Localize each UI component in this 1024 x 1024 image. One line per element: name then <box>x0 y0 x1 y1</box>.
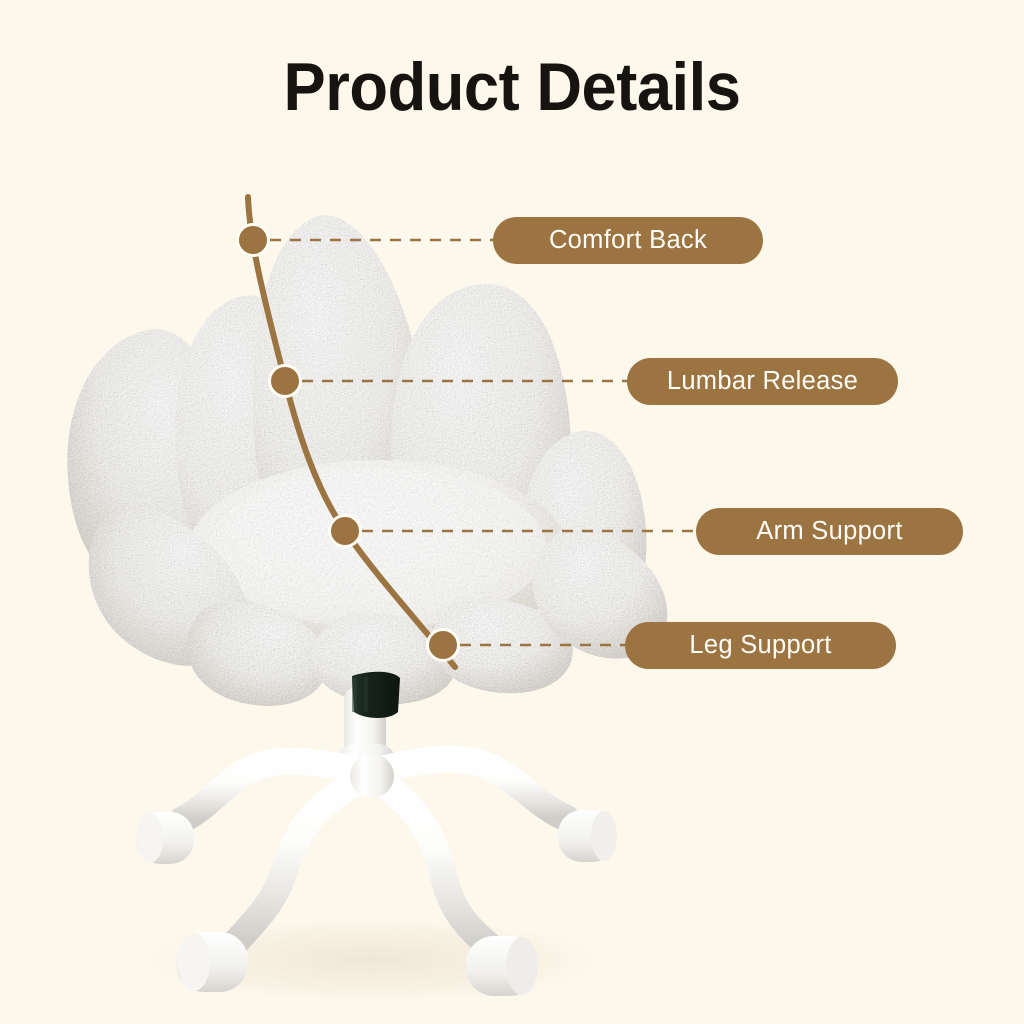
guide-curve <box>248 197 455 667</box>
hotspot-dot-leg-support[interactable] <box>426 628 460 662</box>
hotspot-dot-comfort-back[interactable] <box>236 223 270 257</box>
callout-label-comfort-back[interactable]: Comfort Back <box>493 217 763 264</box>
callout-label-arm-support[interactable]: Arm Support <box>696 508 963 555</box>
hotspot-dot-lumbar-release[interactable] <box>268 364 302 398</box>
leader-lines <box>270 240 700 645</box>
callout-label-leg-support[interactable]: Leg Support <box>625 622 896 669</box>
product-details-infographic: Product Details <box>0 0 1024 1024</box>
hotspot-dot-arm-support[interactable] <box>328 514 362 548</box>
callout-label-lumbar-release[interactable]: Lumbar Release <box>627 358 898 405</box>
